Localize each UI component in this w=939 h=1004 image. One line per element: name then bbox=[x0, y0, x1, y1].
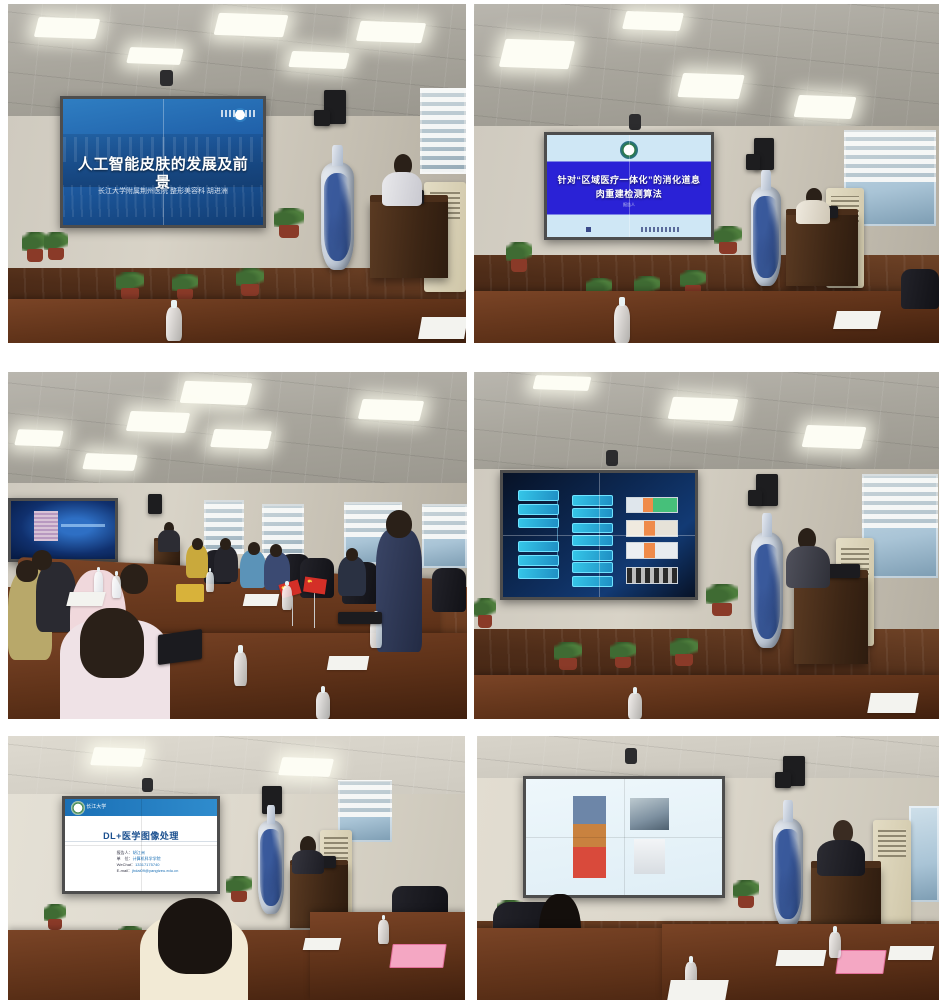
ceiling-light bbox=[82, 453, 138, 471]
potted-plant bbox=[506, 242, 532, 272]
slide-fields: 报告人：胡江洲 单 位：计算机科学学院 WeChat：13317175740 E… bbox=[117, 850, 208, 874]
field-value: 胡江洲 bbox=[133, 850, 145, 855]
meeting-room-scene-6 bbox=[477, 736, 939, 1000]
flow-node bbox=[518, 568, 558, 579]
flow-node bbox=[572, 576, 612, 587]
ceiling-camera-icon bbox=[629, 114, 641, 130]
slide-logo bbox=[71, 801, 85, 815]
meeting-room-scene-5: 长江大学 DL+医学图像处理 报告人：胡江洲 单 位：计算机科学学院 WeCha… bbox=[8, 736, 465, 1000]
office-chair bbox=[901, 269, 939, 309]
meeting-room-scene-4 bbox=[474, 372, 939, 719]
flow-node bbox=[572, 562, 612, 573]
paper-sheet bbox=[303, 938, 342, 950]
water-bottle bbox=[234, 652, 247, 686]
slide-3 bbox=[11, 501, 115, 559]
ceiling-light bbox=[126, 411, 190, 433]
potted-plant bbox=[116, 272, 144, 300]
presenter-body bbox=[382, 172, 422, 206]
paper-sheet bbox=[833, 311, 881, 329]
paper-sheet bbox=[418, 317, 466, 339]
ceiling-camera-icon bbox=[142, 778, 153, 792]
water-bottle bbox=[282, 586, 292, 610]
wall-display-4[interactable] bbox=[500, 470, 698, 600]
flow-node bbox=[518, 541, 558, 552]
podium bbox=[786, 214, 858, 286]
laptop bbox=[158, 629, 202, 665]
podium bbox=[370, 200, 448, 278]
flow-result-image bbox=[626, 567, 678, 584]
presenter-body bbox=[786, 546, 830, 588]
laptop bbox=[338, 612, 382, 624]
meeting-room-scene-1: 人工智能皮肤的发展及前景 长江大学附属荆州医院 整形美容科 胡进洲 bbox=[8, 4, 466, 343]
wall-speaker bbox=[148, 494, 162, 514]
ceiling-light bbox=[499, 39, 575, 69]
flow-node bbox=[572, 508, 612, 519]
ceiling-light bbox=[358, 399, 424, 421]
chinese-flag bbox=[303, 577, 327, 595]
display-seam bbox=[526, 837, 722, 838]
ceiling-light bbox=[210, 429, 272, 449]
field-label: 单 位： bbox=[117, 856, 133, 861]
photo-bottom-left[interactable]: 长江大学 DL+医学图像处理 报告人：胡江洲 单 位：计算机科学学院 WeCha… bbox=[8, 736, 465, 1000]
field-label: E-mail： bbox=[117, 868, 132, 873]
ceiling-light bbox=[532, 375, 591, 391]
field-label: WeChat： bbox=[117, 862, 135, 867]
standing-presenter-body bbox=[158, 530, 180, 552]
photo-middle-left[interactable] bbox=[8, 372, 467, 719]
standing-speaker-head bbox=[386, 510, 412, 538]
water-bottle bbox=[166, 307, 182, 341]
office-chair bbox=[432, 568, 466, 612]
wall-speaker bbox=[748, 490, 762, 506]
wall-speaker bbox=[775, 772, 791, 788]
slide-photo-right-top bbox=[630, 798, 669, 830]
attendee-head bbox=[32, 550, 52, 570]
window-blinds bbox=[420, 88, 466, 174]
ceiling-light bbox=[622, 11, 684, 31]
notepad bbox=[66, 592, 105, 606]
wall-display-2[interactable]: 针对“区域医疗一体化”的消化道息 肉重建检测算法 报告人 bbox=[544, 132, 714, 240]
photo-top-right[interactable]: 针对“区域医疗一体化”的消化道息 肉重建检测算法 报告人 bbox=[474, 4, 939, 343]
flow-node bbox=[518, 555, 558, 566]
seated-attendee-head bbox=[158, 898, 232, 974]
potted-plant bbox=[226, 876, 252, 902]
podium bbox=[794, 576, 868, 664]
standing-speaker bbox=[376, 530, 422, 652]
field-value: 13317175740 bbox=[135, 862, 159, 867]
water-bottle bbox=[829, 932, 841, 958]
field-label: 报告人： bbox=[117, 850, 133, 855]
porcelain-vase bbox=[751, 532, 783, 648]
meeting-room-scene-3 bbox=[8, 372, 467, 719]
ceiling-light bbox=[90, 747, 146, 767]
potted-plant bbox=[706, 584, 738, 616]
potted-plant bbox=[236, 268, 264, 296]
wall-display-5[interactable]: 长江大学 DL+医学图像处理 报告人：胡江洲 单 位：计算机科学学院 WeCha… bbox=[62, 796, 220, 894]
ceiling-camera-icon bbox=[625, 748, 637, 764]
attendee-head bbox=[346, 548, 358, 561]
notepad bbox=[327, 656, 369, 670]
ceiling-light bbox=[356, 21, 426, 43]
ceiling-light bbox=[214, 13, 289, 37]
ceiling-camera-icon bbox=[160, 70, 173, 86]
potted-plant bbox=[554, 642, 582, 670]
display-seam bbox=[629, 135, 630, 237]
ceiling-light bbox=[802, 425, 867, 449]
potted-plant bbox=[733, 880, 759, 908]
flow-result-image bbox=[626, 497, 678, 514]
wall-speaker bbox=[746, 154, 760, 170]
flow-node bbox=[572, 523, 612, 534]
flow-result-image bbox=[626, 542, 678, 559]
water-bottle bbox=[614, 305, 630, 343]
ceiling-camera-icon bbox=[606, 450, 618, 466]
flow-node bbox=[518, 504, 558, 515]
photo-top-left[interactable]: 人工智能皮肤的发展及前景 长江大学附属荆州医院 整形美容科 胡进洲 bbox=[8, 4, 466, 343]
attendee-head bbox=[248, 542, 260, 555]
attendee bbox=[338, 556, 366, 596]
window bbox=[909, 806, 939, 902]
water-bottle bbox=[316, 692, 330, 719]
slide-photo-right-bottom bbox=[634, 839, 665, 874]
window-blinds bbox=[862, 474, 938, 528]
porcelain-vase bbox=[773, 818, 803, 928]
flow-node bbox=[518, 490, 558, 501]
photo-bottom-right[interactable] bbox=[477, 736, 939, 1000]
porcelain-vase bbox=[751, 186, 781, 286]
wall-display-1[interactable]: 人工智能皮肤的发展及前景 长江大学附属荆州医院 整形美容科 胡进洲 bbox=[60, 96, 266, 228]
wall-display-3[interactable] bbox=[8, 498, 118, 562]
ceiling-light bbox=[668, 397, 739, 421]
paper-sheet bbox=[776, 950, 827, 966]
meeting-room-scene-2: 针对“区域医疗一体化”的消化道息 肉重建检测算法 报告人 bbox=[474, 4, 939, 343]
flow-node bbox=[518, 518, 558, 529]
flow-node bbox=[572, 495, 612, 506]
potted-plant bbox=[474, 598, 496, 628]
display-seam bbox=[65, 845, 217, 846]
water-bottle bbox=[378, 920, 389, 944]
window-blinds bbox=[338, 780, 392, 817]
gift-box bbox=[176, 584, 204, 602]
field-value: jhdai09@yangtzeu.edu.cn bbox=[132, 868, 178, 873]
potted-plant bbox=[274, 208, 304, 238]
water-bottle bbox=[628, 693, 642, 719]
ceiling-light bbox=[180, 381, 253, 405]
window bbox=[262, 504, 304, 558]
wall-speaker bbox=[314, 110, 330, 126]
ceiling-light bbox=[677, 73, 744, 99]
paper-sheet bbox=[667, 980, 729, 1000]
attendee-head bbox=[192, 538, 203, 550]
display-seam bbox=[503, 535, 695, 536]
presenter-body bbox=[796, 200, 830, 224]
potted-plant bbox=[172, 274, 198, 300]
name-card bbox=[389, 944, 446, 968]
flow-node bbox=[572, 535, 612, 546]
attendee bbox=[214, 546, 238, 582]
photo-collage: 人工智能皮肤的发展及前景 长江大学附属荆州医院 整形美容科 胡进洲 bbox=[0, 0, 939, 1004]
window bbox=[420, 88, 466, 174]
attendee bbox=[240, 550, 266, 588]
potted-plant bbox=[670, 638, 698, 666]
porcelain-vase bbox=[321, 162, 354, 270]
ceiling-light bbox=[288, 51, 349, 69]
ceiling-light bbox=[126, 47, 184, 65]
potted-plant bbox=[610, 642, 636, 668]
slide-logo-text: 长江大学 bbox=[86, 803, 106, 810]
potted-plant bbox=[714, 226, 742, 254]
water-bottle bbox=[94, 572, 103, 594]
ceiling-light bbox=[794, 95, 857, 119]
ceiling-light bbox=[14, 429, 64, 447]
attendee-head bbox=[270, 544, 282, 557]
slide-logo-text bbox=[221, 110, 257, 117]
potted-plant bbox=[44, 232, 68, 260]
photo-middle-right[interactable] bbox=[474, 372, 939, 719]
wall-display-6[interactable] bbox=[523, 776, 725, 898]
attendee-head bbox=[80, 608, 144, 678]
presenter-body bbox=[817, 840, 865, 876]
potted-plant bbox=[44, 904, 66, 930]
flow-node bbox=[572, 550, 612, 561]
ceiling-light bbox=[34, 17, 100, 39]
paper-sheet bbox=[888, 946, 934, 960]
slide-footer-right bbox=[641, 227, 681, 232]
display-seam bbox=[163, 99, 164, 225]
attendee-head bbox=[120, 564, 148, 594]
notepad bbox=[243, 594, 280, 606]
field-value: 计算机科学学院 bbox=[133, 856, 161, 861]
presenter-body bbox=[292, 850, 324, 874]
water-bottle bbox=[112, 576, 121, 598]
slide-footer-left bbox=[586, 227, 591, 232]
window-blinds bbox=[844, 130, 936, 182]
ceiling-light bbox=[278, 757, 334, 777]
porcelain-vase bbox=[258, 820, 284, 914]
paper-sheet bbox=[867, 693, 919, 713]
slide-thumb bbox=[34, 511, 58, 541]
water-bottle bbox=[206, 572, 214, 592]
conference-table bbox=[8, 299, 466, 343]
name-card bbox=[835, 950, 886, 974]
window bbox=[422, 504, 467, 568]
attendee-head bbox=[220, 538, 231, 550]
